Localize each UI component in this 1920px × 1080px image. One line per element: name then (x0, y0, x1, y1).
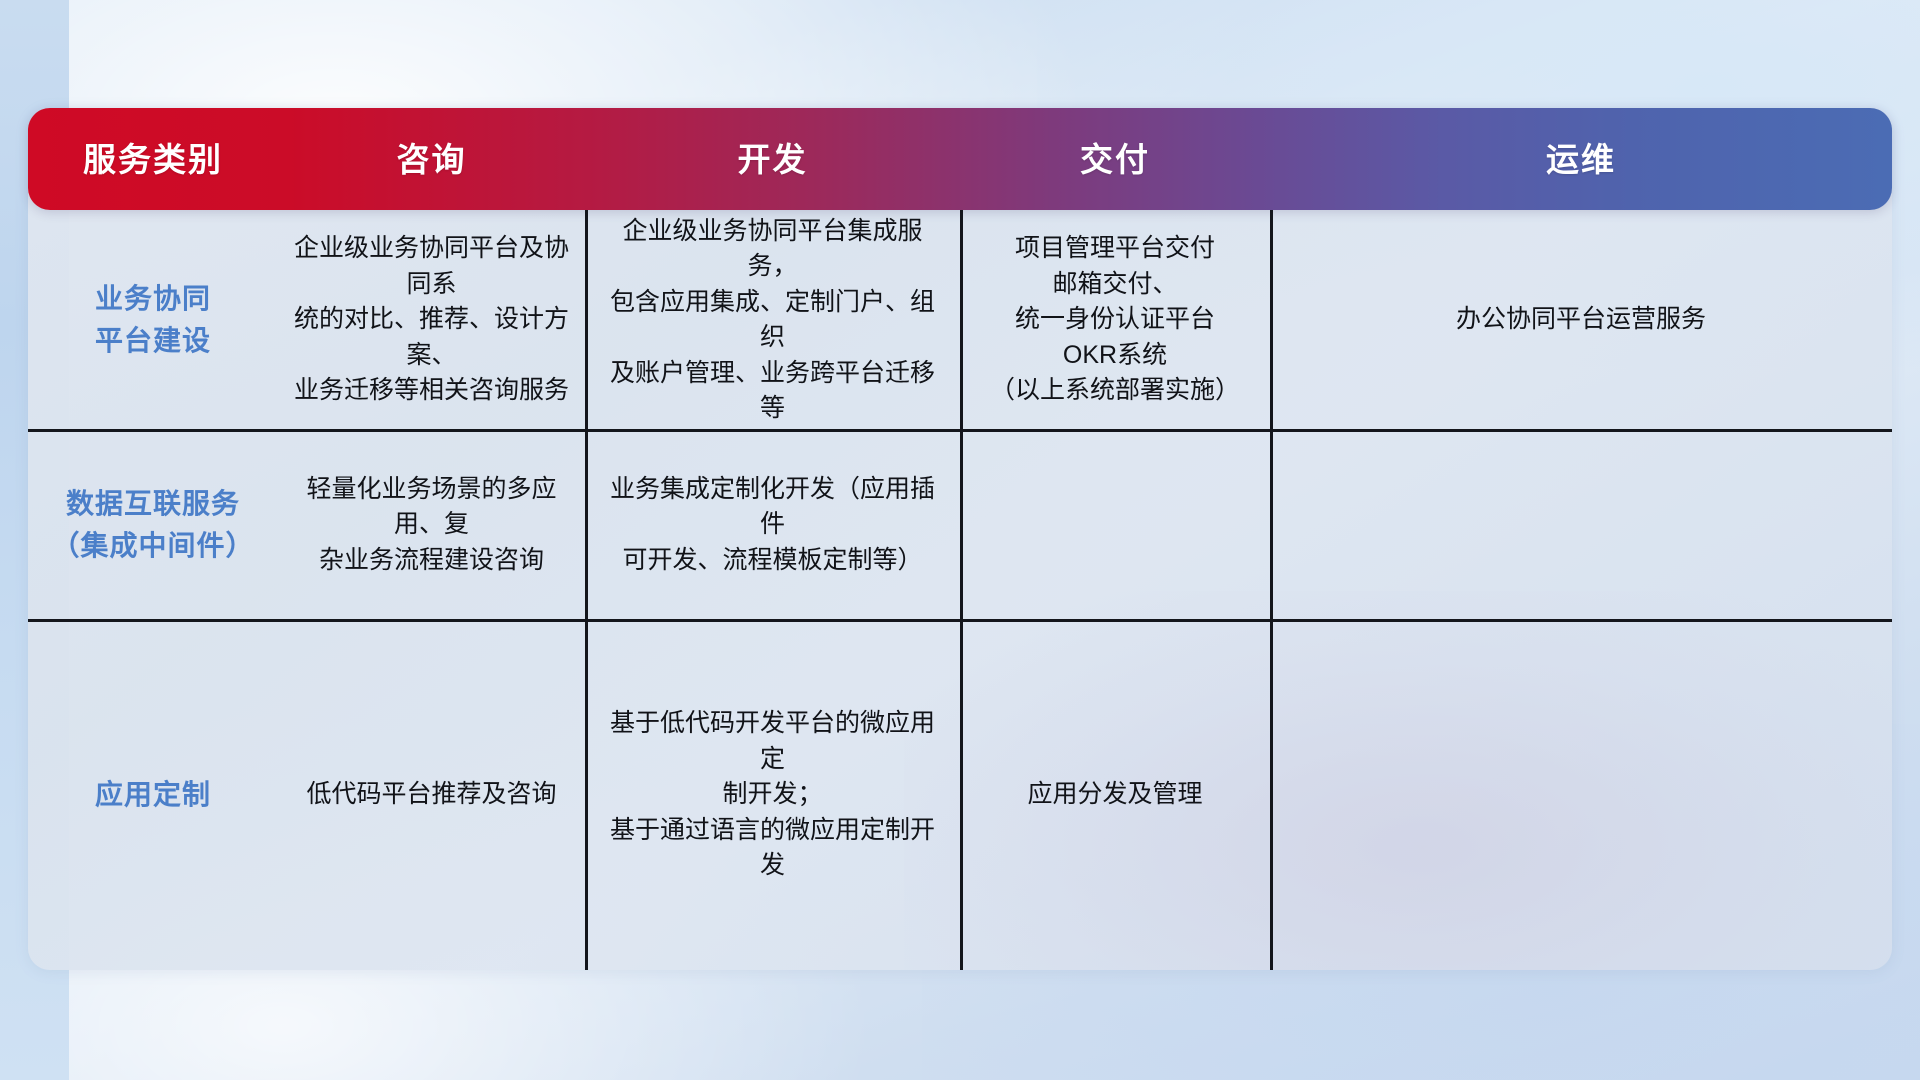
cell-delivery: 项目管理平台交付 邮箱交付、 统一身份认证平台 OKR系统 （以上系统部署实施） (960, 210, 1270, 430)
slide-canvas: 服务类别 咨询 开发 交付 运维 业务协同 平台建设 企业级业务协同平台及协同系… (0, 0, 1920, 1080)
column-header-development: 开发 (585, 143, 960, 176)
column-header-operations: 运维 (1270, 143, 1892, 176)
cell-operations: 办公协同平台运营服务 (1270, 210, 1892, 430)
column-header-delivery: 交付 (960, 143, 1270, 176)
cell-consulting: 企业级业务协同平台及协同系 统的对比、推荐、设计方案、 业务迁移等相关咨询服务 (278, 210, 585, 430)
column-divider-2 (960, 210, 963, 970)
column-header-service-category: 服务类别 (28, 143, 278, 176)
cell-delivery (960, 430, 1270, 620)
cell-development: 业务集成定制化开发（应用插件 可开发、流程模板定制等） (585, 430, 960, 620)
cell-development: 基于低代码开发平台的微应用定 制开发； 基于通过语言的微应用定制开发 (585, 620, 960, 970)
row-divider-2 (28, 619, 1892, 622)
cell-delivery: 应用分发及管理 (960, 620, 1270, 970)
row-category-label: 业务协同 平台建设 (28, 210, 278, 430)
cell-operations (1270, 620, 1892, 970)
row-divider-1 (28, 429, 1892, 432)
row-category-label: 应用定制 (28, 620, 278, 970)
column-header-consulting: 咨询 (278, 143, 585, 176)
cell-operations (1270, 430, 1892, 620)
table-body: 业务协同 平台建设 企业级业务协同平台及协同系 统的对比、推荐、设计方案、 业务… (28, 210, 1892, 970)
table-header-row: 服务类别 咨询 开发 交付 运维 (28, 108, 1892, 210)
column-divider-3 (1270, 210, 1273, 970)
row-category-label: 数据互联服务 （集成中间件） (28, 430, 278, 620)
cell-development: 企业级业务协同平台集成服务， 包含应用集成、定制门户、组织 及账户管理、业务跨平… (585, 210, 960, 430)
cell-consulting: 轻量化业务场景的多应用、复 杂业务流程建设咨询 (278, 430, 585, 620)
column-divider-1 (585, 210, 588, 970)
cell-consulting: 低代码平台推荐及咨询 (278, 620, 585, 970)
